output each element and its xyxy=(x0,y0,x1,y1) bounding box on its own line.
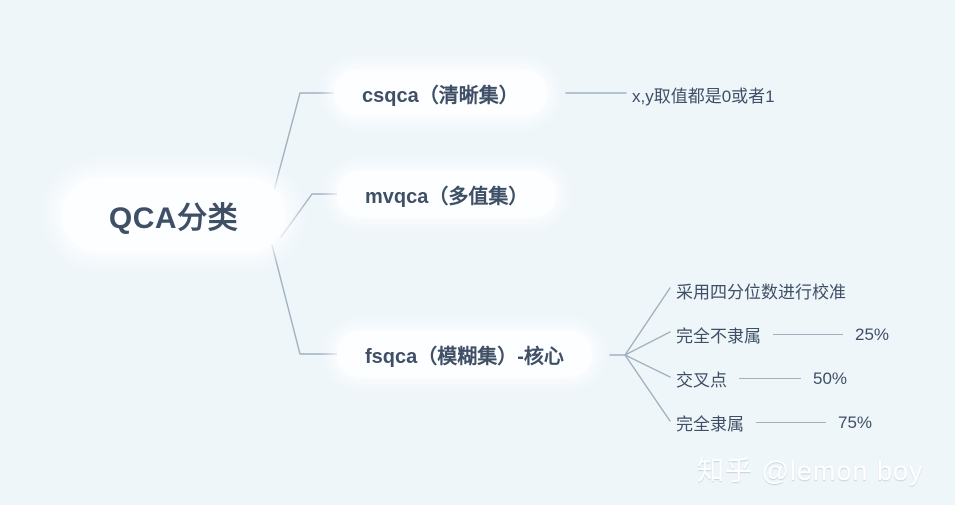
leaf-label: x,y取值都是0或者1 xyxy=(632,82,775,107)
edge-root-to-mvqca xyxy=(281,194,337,237)
mindmap-canvas: QCA分类 csqca（清晰集） mvqca（多值集） fsqca（模糊集）-核… xyxy=(0,0,955,505)
node-root[interactable]: QCA分类 xyxy=(62,178,285,252)
node-root-label: QCA分类 xyxy=(109,193,238,237)
leaf-dash-connector xyxy=(773,334,843,335)
edge-fsqca-to-leaf-3 xyxy=(625,355,670,377)
node-branch-mvqca[interactable]: mvqca（多值集） xyxy=(337,171,556,217)
leaf-dash-connector xyxy=(739,378,801,379)
leaf-value: 25% xyxy=(855,325,889,345)
edge-fsqca-to-leaf-2 xyxy=(625,332,670,355)
leaf-fsqca-crossover-point[interactable]: 交叉点 50% xyxy=(676,366,847,391)
edge-fsqca-to-leaf-1 xyxy=(625,288,670,355)
leaf-label: 交叉点 xyxy=(676,366,727,391)
leaf-fsqca-full-non-membership[interactable]: 完全不隶属 25% xyxy=(676,322,889,347)
edge-root-to-csqca xyxy=(272,93,334,198)
leaf-fsqca-calibration[interactable]: 采用四分位数进行校准 xyxy=(676,278,846,303)
node-branch-fsqca-label: fsqca（模糊集）-核心 xyxy=(365,340,564,369)
node-branch-fsqca[interactable]: fsqca（模糊集）-核心 xyxy=(337,331,592,377)
watermark: 知乎 @lemon boy xyxy=(697,449,923,488)
leaf-value: 75% xyxy=(838,413,872,433)
leaf-label: 完全隶属 xyxy=(676,410,744,435)
node-branch-csqca-label: csqca（清晰集） xyxy=(362,79,519,108)
node-branch-mvqca-label: mvqca（多值集） xyxy=(365,180,528,209)
edge-root-to-fsqca xyxy=(272,245,337,354)
leaf-dash-connector xyxy=(756,422,826,423)
leaf-value: 50% xyxy=(813,369,847,389)
leaf-csqca-rule[interactable]: x,y取值都是0或者1 xyxy=(632,82,775,107)
leaf-label: 采用四分位数进行校准 xyxy=(676,278,846,303)
leaf-label: 完全不隶属 xyxy=(676,322,761,347)
leaf-fsqca-full-membership[interactable]: 完全隶属 75% xyxy=(676,410,872,435)
edge-fsqca-to-leaf-4 xyxy=(625,355,670,421)
node-branch-csqca[interactable]: csqca（清晰集） xyxy=(334,70,547,116)
